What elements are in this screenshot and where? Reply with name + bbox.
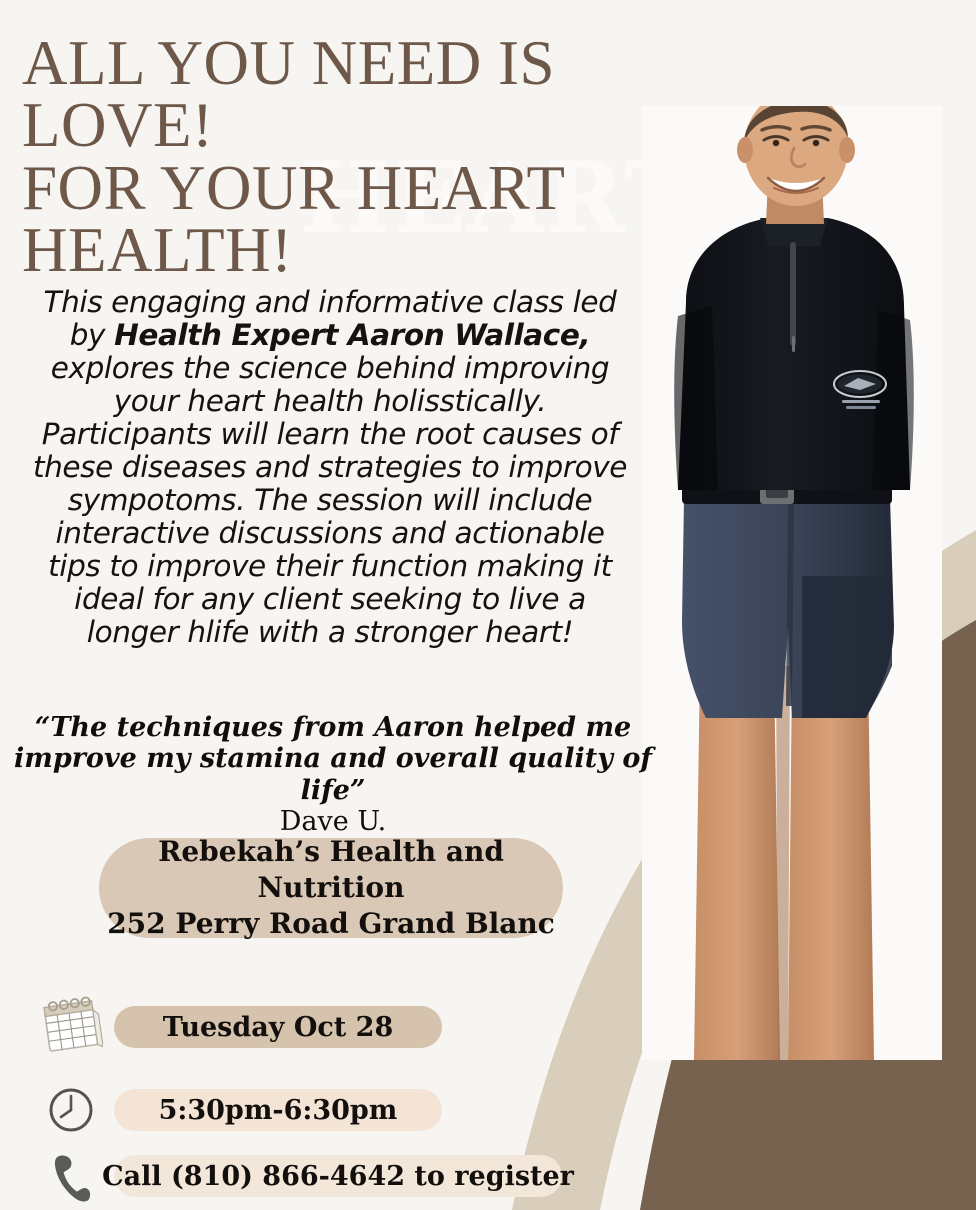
phone-label: Call (810) 866-4642 to register (102, 1161, 574, 1192)
phone-pill: Call (810) 866-4642 to register (114, 1155, 562, 1197)
venue-address: 252 Perry Road Grand Blanc (107, 906, 555, 942)
page-title: ALL YOU NEED IS LOVE! FOR YOUR HEART HEA… (22, 32, 722, 281)
class-description: This engaging and informative class led … (26, 286, 634, 649)
zipper (790, 242, 796, 346)
venue-name: Rebekah’s Health and Nutrition (99, 834, 563, 906)
calendar-icon (28, 996, 114, 1058)
date-label: Tuesday Oct 28 (163, 1012, 394, 1043)
time-pill: 5:30pm-6:30pm (114, 1089, 442, 1131)
right-leg (788, 666, 874, 1060)
detail-row-time: 5:30pm-6:30pm (28, 1084, 442, 1136)
venue-pill: Rebekah’s Health and Nutrition 252 Perry… (99, 838, 563, 938)
clock-icon (28, 1084, 114, 1136)
phone-icon (28, 1148, 114, 1204)
detail-row-phone: Call (810) 866-4642 to register (28, 1148, 562, 1204)
testimonial-quote: “The techniques from Aaron helped me imp… (14, 712, 652, 806)
left-leg (694, 666, 780, 1060)
time-label: 5:30pm-6:30pm (159, 1095, 398, 1126)
flyer-poster: HEART (0, 0, 976, 1210)
headline-line-2: FOR YOUR HEART (22, 153, 565, 223)
headline-line-1: ALL YOU NEED IS LOVE! (22, 28, 555, 160)
testimonial: “The techniques from Aaron helped me imp… (8, 712, 658, 837)
expert-name: Health Expert Aaron Wallace, (114, 318, 590, 352)
description-rest: explores the science behind improving yo… (33, 351, 627, 649)
testimonial-attribution: Dave U. (280, 806, 386, 837)
detail-row-date: Tuesday Oct 28 (28, 996, 442, 1058)
headline-line-3: HEALTH! (22, 215, 293, 285)
date-pill: Tuesday Oct 28 (114, 1006, 442, 1048)
